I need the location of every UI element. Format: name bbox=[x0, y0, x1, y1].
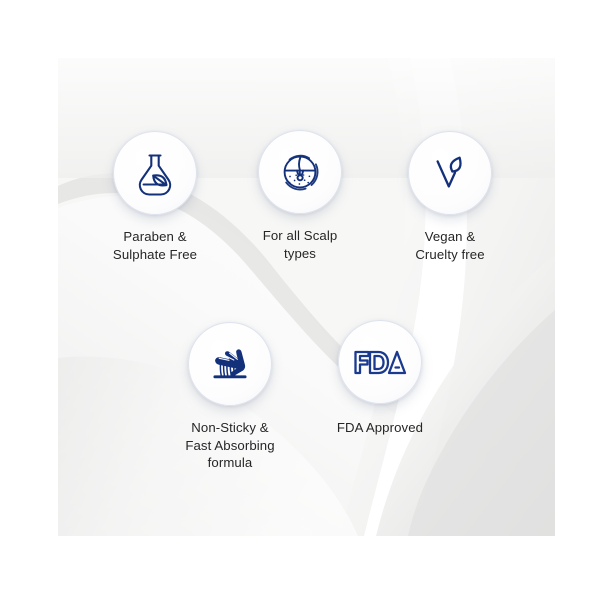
badge-circle-fda bbox=[338, 320, 422, 404]
feature-paraben-sulphate-free: Paraben & Sulphate Free bbox=[80, 131, 230, 263]
feature-vegan-cruelty-free: Vegan & Cruelty free bbox=[375, 131, 525, 263]
badge-circle-paraben bbox=[113, 131, 197, 215]
feature-caption: Vegan & Cruelty free bbox=[375, 228, 525, 263]
badge-circle-vegan bbox=[408, 131, 492, 215]
flask-leaf-icon bbox=[130, 148, 180, 198]
scalp-hair-follicle-icon bbox=[275, 147, 325, 197]
feature-caption: FDA Approved bbox=[305, 419, 455, 437]
feature-for-all-scalp-types: For all Scalp types bbox=[225, 130, 375, 262]
feature-caption: For all Scalp types bbox=[225, 227, 375, 262]
product-feature-graphic: Paraben & Sulphate Free bbox=[0, 0, 600, 600]
feature-fda-approved: FDA Approved bbox=[305, 320, 455, 437]
badge-circle-scalp bbox=[258, 130, 342, 214]
feature-non-sticky-fast-absorbing: Non-Sticky & Fast Absorbing formula bbox=[155, 322, 305, 472]
badge-circle-non-sticky bbox=[188, 322, 272, 406]
feature-caption: Non-Sticky & Fast Absorbing formula bbox=[155, 419, 305, 472]
non-sticky-hand-icon bbox=[204, 338, 256, 390]
vegan-leaf-icon bbox=[425, 148, 475, 198]
fda-logo-icon bbox=[353, 345, 407, 379]
feature-caption: Paraben & Sulphate Free bbox=[80, 228, 230, 263]
